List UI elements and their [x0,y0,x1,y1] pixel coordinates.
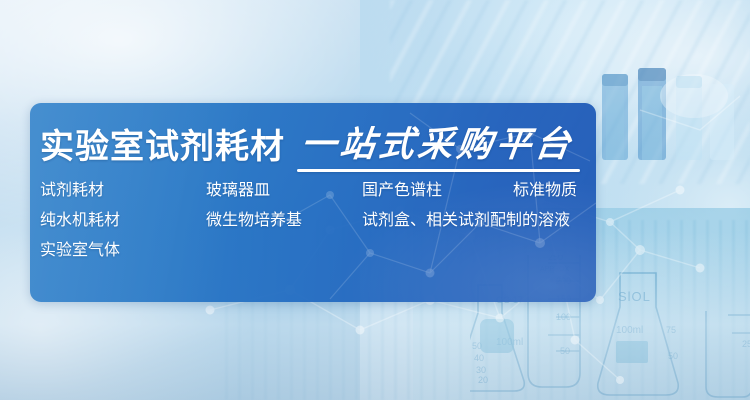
category-row: 实验室气体 [40,243,586,273]
svg-text:50: 50 [472,341,482,351]
category-item-water-purifier-consumables[interactable]: 纯水机耗材 [40,213,120,229]
category-item-reagent-kits-solutions[interactable]: 试剂盒、相关试剂配制的溶液 [362,213,570,229]
svg-text:50: 50 [560,346,570,356]
category-item-domestic-chromatography-column[interactable]: 国产色谱柱 [362,183,442,199]
test-tube-vials-graphic [590,50,750,160]
category-row: 试剂耗材 玻璃器皿 国产色谱柱 标准物质 [40,183,586,213]
headline-underline [297,169,580,172]
svg-text:20: 20 [478,375,488,385]
headline-panel: 实验室试剂耗材 一站式采购平台 试剂耗材 玻璃器皿 国产色谱柱 标准物质 纯水机… [30,103,596,302]
headline-sub-title-wrap: 一站式采购平台 [301,127,574,168]
headline-main-title: 实验室试剂耗材 [40,130,285,164]
category-item-glassware[interactable]: 玻璃器皿 [206,183,270,199]
svg-text:75: 75 [666,325,676,335]
svg-text:100: 100 [556,312,571,322]
svg-text:100ml: 100ml [616,325,643,336]
category-row: 纯水机耗材 微生物培养基 试剂盒、相关试剂配制的溶液 [40,213,586,243]
category-list: 试剂耗材 玻璃器皿 国产色谱柱 标准物质 纯水机耗材 微生物培养基 试剂盒、相关… [40,183,586,273]
svg-text:40: 40 [474,353,484,363]
category-item-reference-materials[interactable]: 标准物质 [513,183,577,199]
promo-banner: 250 APPROX 200 150 100 50 GG-17 100ml 50… [0,0,750,400]
category-item-microbial-culture-media[interactable]: 微生物培养基 [206,213,302,229]
category-item-laboratory-gases[interactable]: 实验室气体 [40,243,120,259]
headline-sub-title: 一站式采购平台 [299,127,576,162]
svg-text:100ml: 100ml [496,337,523,348]
svg-text:250: 250 [742,339,750,349]
category-item-reagent-consumables[interactable]: 试剂耗材 [40,183,104,199]
headline-row: 实验室试剂耗材 一站式采购平台 [40,117,586,177]
svg-text:SlOL: SlOL [618,289,651,304]
svg-text:50: 50 [668,351,678,361]
svg-text:30: 30 [476,365,486,375]
